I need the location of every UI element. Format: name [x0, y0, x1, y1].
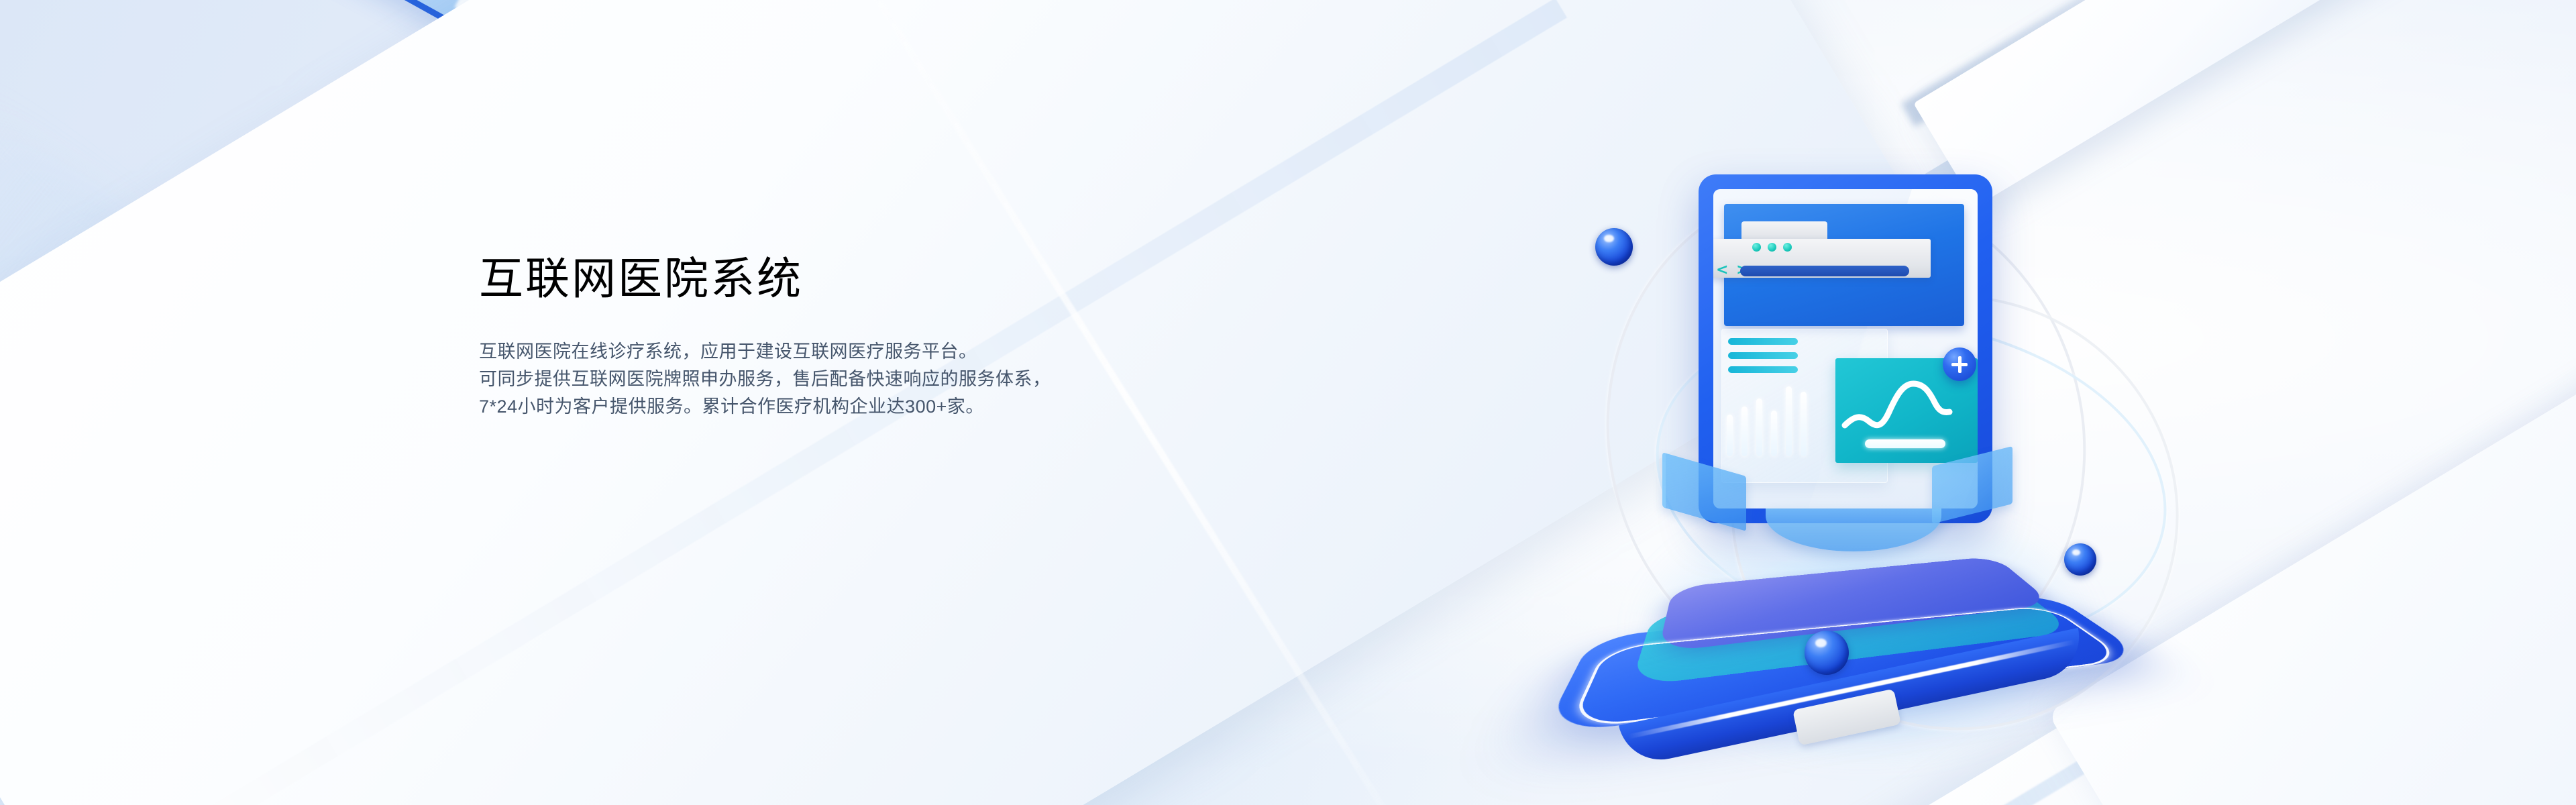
- browser-tab[interactable]: [1741, 221, 1827, 240]
- text-line-3: [1728, 366, 1798, 373]
- browser-toolbar: < >: [1713, 239, 1931, 278]
- hero-illustration: < >: [1529, 121, 2241, 711]
- text-line-2: [1728, 352, 1798, 359]
- description-line-1: 互联网医院在线诊疗系统，应用于建设互联网医疗服务平台。: [479, 338, 1418, 366]
- text-lines-group: [1728, 338, 1798, 380]
- traffic-dot-1[interactable]: [1752, 243, 1761, 252]
- traffic-dot-3[interactable]: [1783, 243, 1792, 252]
- platform-base: [1594, 496, 2124, 738]
- description-line-2: 可同步提供互联网医院牌照申办服务，售后配备快速响应的服务体系，: [479, 366, 1418, 393]
- traffic-dot-2[interactable]: [1768, 243, 1776, 252]
- line-chart-caption-bar: [1865, 439, 1945, 448]
- hero-banner: < >: [0, 0, 2576, 805]
- bar-3: [1756, 398, 1762, 456]
- browser-window: < >: [1713, 221, 1931, 280]
- traffic-light-dots: [1752, 243, 1792, 252]
- address-bar-input[interactable]: [1740, 266, 1909, 276]
- monitor-display: < >: [1713, 189, 1978, 508]
- medical-plus-icon: [1943, 347, 1976, 381]
- page-title: 互联网医院系统: [479, 256, 1418, 301]
- bar-chart: [1727, 381, 1842, 456]
- orbit-sphere-2: [2064, 543, 2096, 576]
- bar-5: [1786, 386, 1792, 456]
- bar-1: [1727, 415, 1733, 456]
- text-line-1: [1728, 338, 1798, 345]
- orbit-sphere-1: [1595, 228, 1633, 266]
- bar-2: [1741, 407, 1748, 456]
- bar-4: [1771, 411, 1777, 456]
- bar-6: [1801, 392, 1807, 456]
- description-line-3: 7*24小时为客户提供服务。累计合作医疗机构企业达300+家。: [479, 393, 1418, 421]
- orbit-sphere-3: [1805, 631, 1849, 675]
- hero-description: 互联网医院在线诊疗系统，应用于建设互联网医疗服务平台。 可同步提供互联网医院牌照…: [479, 301, 1418, 421]
- hero-copy: 互联网医院系统 互联网医院在线诊疗系统，应用于建设互联网医疗服务平台。 可同步提…: [479, 256, 1418, 421]
